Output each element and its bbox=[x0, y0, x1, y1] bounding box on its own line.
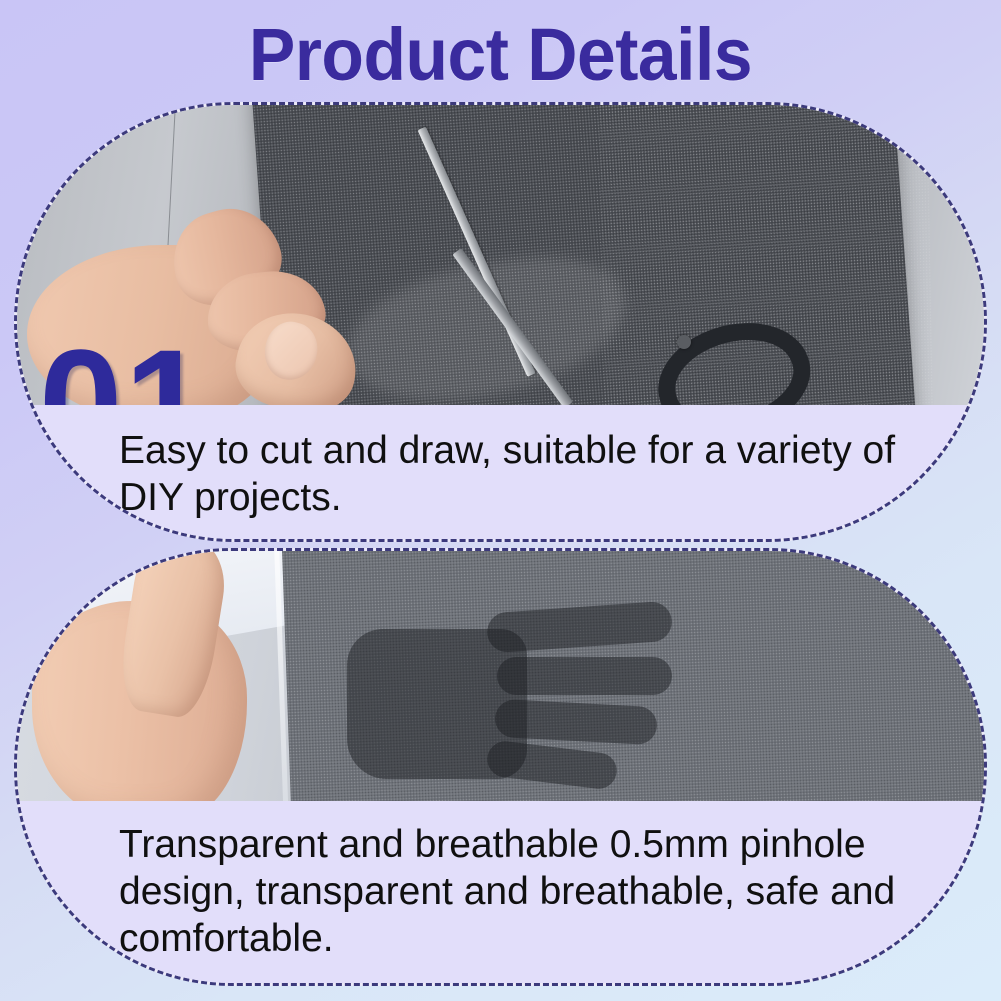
page-title: Product Details bbox=[30, 14, 971, 96]
hand-behind-mesh bbox=[32, 551, 332, 801]
silhouette-finger-4 bbox=[485, 739, 618, 791]
feature-caption-01: Easy to cut and draw, suitable for a var… bbox=[17, 405, 984, 542]
feature-caption-02: Transparent and breathable 0.5mm pinhole… bbox=[17, 801, 984, 986]
scissor-pivot bbox=[677, 335, 691, 349]
feature-panel-02: 02 Transparent and breathable 0.5mm pinh… bbox=[14, 548, 987, 986]
scissors-icon bbox=[517, 105, 977, 405]
feature-photo-transparency bbox=[17, 551, 984, 801]
silhouette-finger-2 bbox=[497, 657, 672, 695]
silhouette-finger-1 bbox=[486, 601, 673, 654]
hand-silhouette-through-mesh bbox=[347, 589, 677, 789]
scissor-handle bbox=[644, 304, 824, 405]
feature-panel-01: 01 Easy to cut and draw, suitable for a … bbox=[14, 102, 987, 542]
product-details-poster: Product Details 01 Easy to cut a bbox=[0, 0, 1001, 1001]
